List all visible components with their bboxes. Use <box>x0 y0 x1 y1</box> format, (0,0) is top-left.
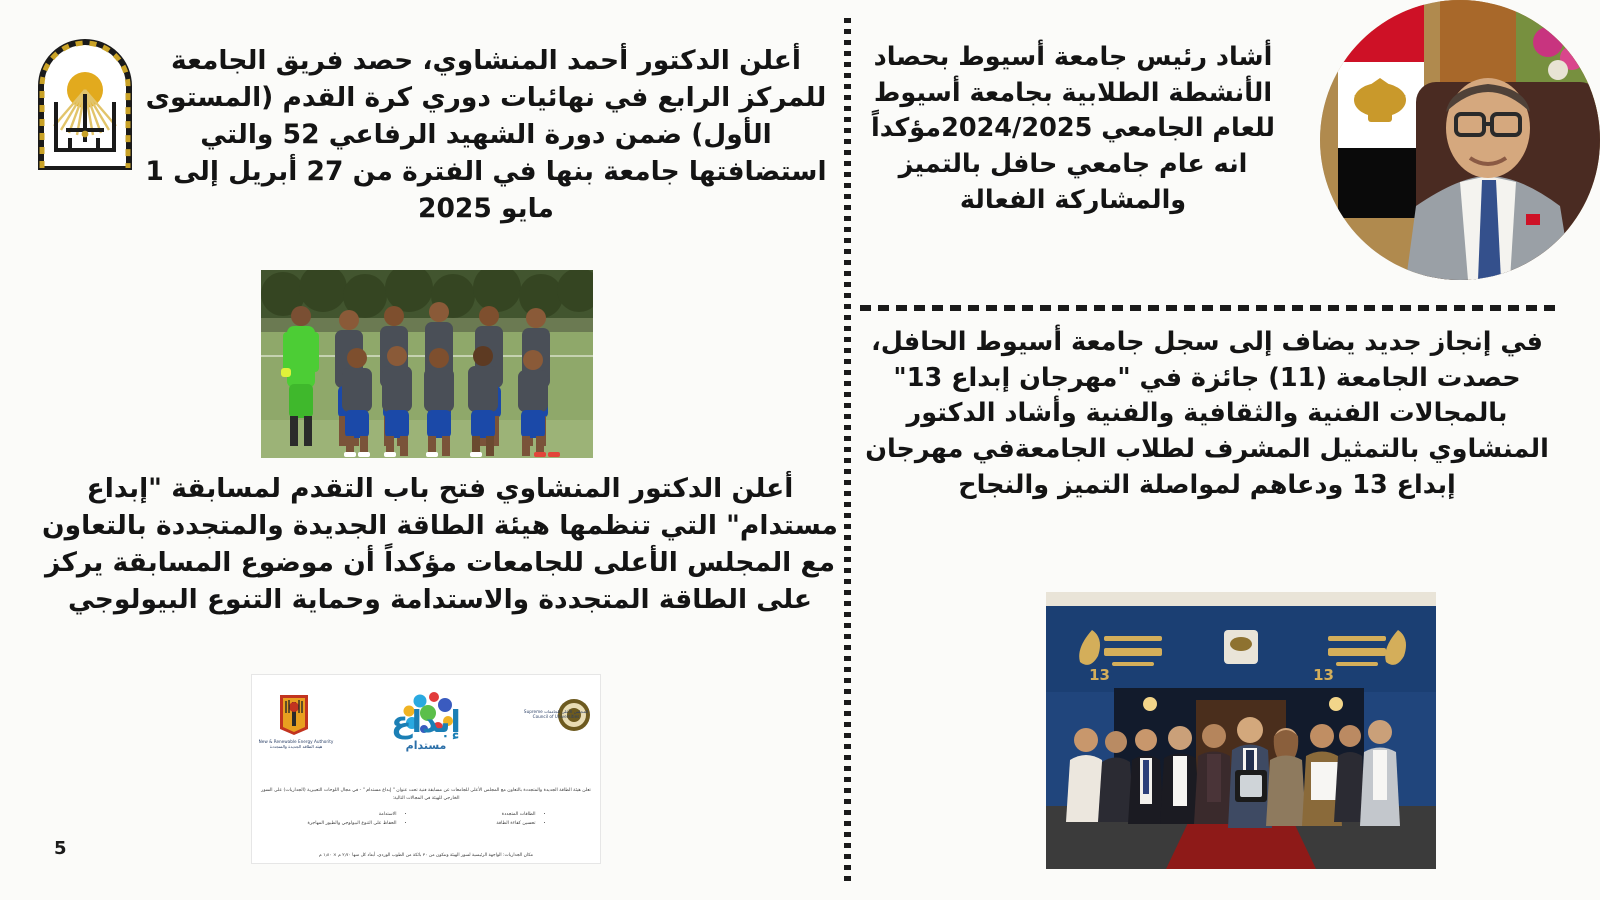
poster-bullets-right: الطاقات المتجددة تحسين كفاءة الطاقة <box>496 811 544 828</box>
poster-body-text: تعلن هيئة الطاقة الجديدة والمتجددة بالتع… <box>258 787 594 803</box>
crest-center-dot <box>82 131 89 138</box>
university-president-portrait <box>1320 0 1600 280</box>
poster-bullet-columns: الطاقات المتجددة تحسين كفاءة الطاقة الاس… <box>262 811 590 828</box>
list-item: الطاقات المتجددة <box>496 811 535 820</box>
svg-text:13: 13 <box>1089 666 1110 684</box>
poster-title-word: إبداع <box>252 705 600 740</box>
assiut-university-logo <box>34 38 136 170</box>
wall-sconce-left <box>1143 697 1157 711</box>
newsletter-slide: 5 <box>0 0 1600 900</box>
right-praise-paragraph: أشاد رئيس جامعة أسيوط بحصاد الأنشطة الطل… <box>858 40 1288 218</box>
poster-footer-text: مكان الجداريات: الواجهة الرئيسية لسور ال… <box>258 853 594 858</box>
left-news-paragraph: أعلن الدكتور أحمد المنشاوي، حصد فريق الج… <box>130 42 842 227</box>
football-team-photo <box>261 270 593 458</box>
svg-text:13: 13 <box>1313 666 1334 684</box>
award-plaque <box>1240 775 1262 797</box>
list-item: الحفاظ على التنوع البيولوجي والطيور المه… <box>307 820 396 829</box>
page-number: 5 <box>54 838 67 859</box>
list-item: الاستدامة <box>307 811 396 820</box>
poster-title-sub: مستدام <box>252 739 600 752</box>
wall-sconce-right <box>1329 697 1343 711</box>
ebdaa-mustadam-poster: New & Renewable Energy Authority هيئة ال… <box>251 674 601 864</box>
ebdaa-festival-ceremony-photo: 13 13 <box>1046 592 1436 869</box>
dashed-horizontal-divider <box>860 305 1560 311</box>
flag-lapel-pin <box>1526 214 1540 225</box>
right-award-paragraph: في إنجاز جديد يضاف إلى سجل جامعة أسيوط ا… <box>862 325 1552 503</box>
left-contest-paragraph: أعلن الدكتور المنشاوي فتح باب التقدم لمس… <box>38 470 842 618</box>
egypt-flag <box>1338 0 1424 218</box>
backdrop-egypt-emblem <box>1224 630 1258 664</box>
list-item: تحسين كفاءة الطاقة <box>496 820 535 829</box>
dotted-vertical-divider <box>844 18 851 884</box>
poster-bullets-left: الاستدامة الحفاظ على التنوع البيولوجي وا… <box>307 811 405 828</box>
